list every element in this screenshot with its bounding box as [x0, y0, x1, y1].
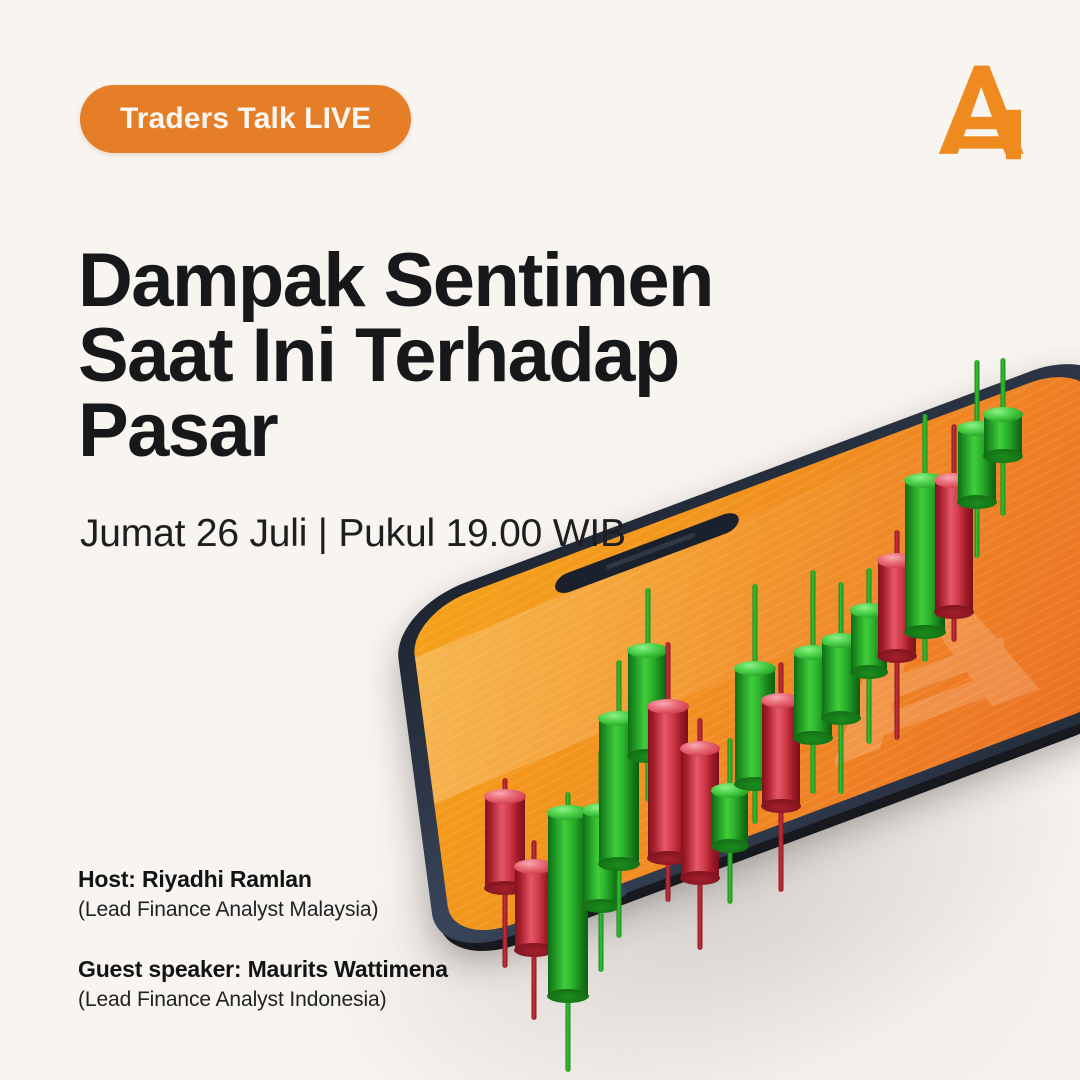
guest-name: Guest speaker: Maurits Wattimena	[78, 956, 558, 983]
host-name: Host: Riyadhi Ramlan	[78, 866, 558, 893]
speaker-credits: Host: Riyadhi Ramlan (Lead Finance Analy…	[78, 866, 558, 1012]
headline-line-3: Pasar	[78, 393, 838, 468]
guest-role: (Lead Finance Analyst Indonesia)	[78, 988, 558, 1012]
live-badge[interactable]: Traders Talk LIVE	[80, 85, 411, 153]
event-datetime: Jumat 26 Juli | Pukul 19.00 WIB	[80, 512, 626, 556]
live-badge-label: Traders Talk LIVE	[120, 102, 371, 136]
headline-line-1: Dampak Sentimen	[78, 243, 838, 318]
brand-logo-icon[interactable]	[930, 54, 1036, 162]
page-title: Dampak Sentimen Saat Ini Terhadap Pasar	[78, 243, 838, 469]
host-role: (Lead Finance Analyst Malaysia)	[78, 898, 558, 922]
headline-line-2: Saat Ini Terhadap	[78, 318, 838, 393]
poster-canvas: Traders Talk LIVE Dampak Sentimen Saat I…	[0, 0, 1080, 1080]
